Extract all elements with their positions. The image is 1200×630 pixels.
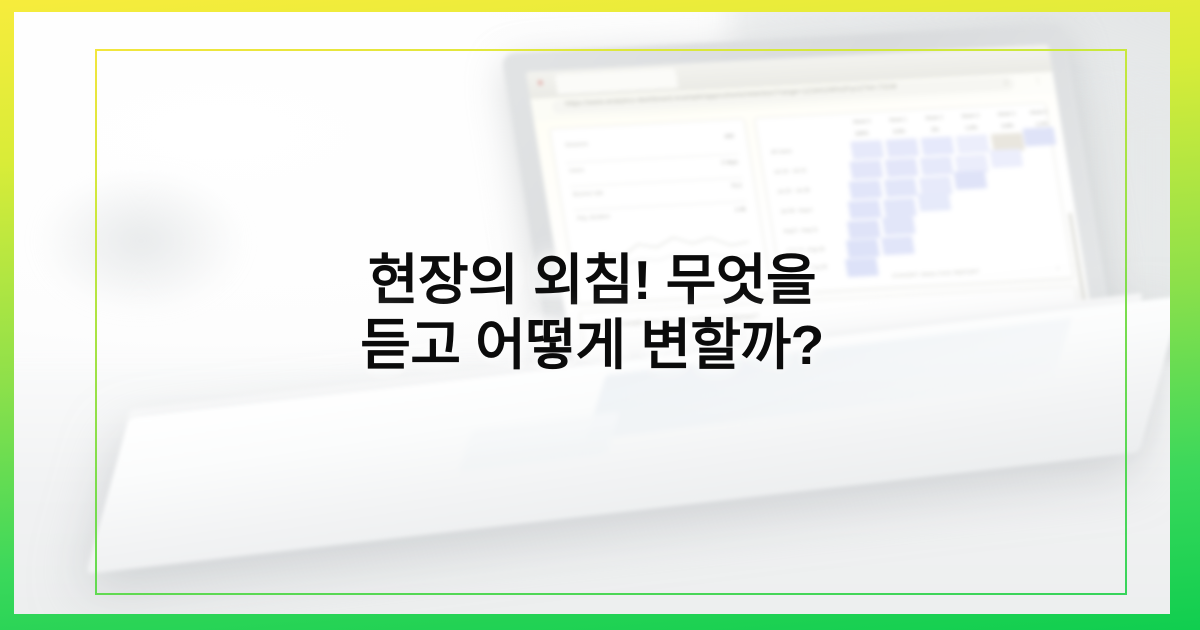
heatmap-cell[interactable] bbox=[921, 136, 955, 155]
cohort-row-label: Jul 29 - Aug 4 bbox=[780, 207, 813, 215]
heatmap-cell[interactable] bbox=[1022, 127, 1056, 146]
headline-line-1: 현장의 외침! 무엇을 bbox=[14, 248, 1170, 313]
thumbnail-card: https://www.analytics-dashboard.example/… bbox=[0, 0, 1200, 630]
metric-value: 400 bbox=[724, 134, 734, 140]
cohort-row-label: Aug 5 - Aug 11 bbox=[783, 227, 818, 235]
cohort-col-percent: 2% bbox=[931, 127, 939, 133]
cohort-row-label: Jul 22 - Jul 28 bbox=[777, 188, 810, 196]
heatmap-cell[interactable] bbox=[917, 192, 951, 211]
metric-value: 1:48 bbox=[734, 207, 746, 213]
heatmap-cell[interactable] bbox=[989, 149, 1023, 168]
heatmap-cell[interactable] bbox=[920, 156, 954, 175]
heatmap-cell[interactable] bbox=[885, 138, 919, 157]
cohort-col-header: Week 5 bbox=[1029, 109, 1048, 116]
metric-label: Users bbox=[569, 168, 585, 175]
kebab-menu-icon[interactable]: ⋮ bbox=[1033, 76, 1042, 85]
window-close-dot[interactable] bbox=[537, 80, 543, 85]
heatmap-cell[interactable] bbox=[885, 158, 919, 177]
heatmap-cell[interactable] bbox=[882, 216, 916, 235]
browser-tab[interactable] bbox=[555, 68, 679, 94]
page-title: 현장의 외침! 무엇을 듣고 어떻게 변할까? bbox=[14, 248, 1170, 378]
cohort-col-percent: 1.6% bbox=[965, 125, 978, 132]
metric-value: 2 days bbox=[721, 159, 739, 166]
cohort-col-header: Week 3 bbox=[961, 113, 980, 120]
metric-label: Bounce rate bbox=[573, 190, 604, 198]
heatmap-cell[interactable] bbox=[849, 160, 883, 179]
cohort-col-header: Week 4 bbox=[997, 111, 1016, 118]
heatmap-cell[interactable] bbox=[847, 220, 881, 239]
heatmap-cell[interactable] bbox=[850, 140, 884, 159]
cohort-col-header: Week 2 bbox=[925, 115, 944, 122]
cohort-col-header: Week 0 bbox=[853, 119, 872, 126]
heatmap-cell[interactable] bbox=[849, 180, 883, 199]
heatmap-cell[interactable] bbox=[953, 170, 987, 189]
headline-line-2: 듣고 어떻게 변할까? bbox=[14, 313, 1170, 378]
cohort-col-percent: 100% bbox=[855, 131, 869, 138]
cohort-row-label: Jul 15 - Jul 21 bbox=[774, 168, 807, 176]
heatmap-cell[interactable] bbox=[848, 200, 882, 219]
home-icon[interactable]: ⌂ bbox=[1003, 78, 1009, 87]
cohort-row-label: All Users bbox=[770, 149, 792, 156]
cohort-col-percent: 3.5% bbox=[893, 129, 906, 136]
heatmap-cell[interactable] bbox=[884, 178, 918, 197]
metric-label: Avg. duration bbox=[577, 214, 611, 222]
card-content-area: https://www.analytics-dashboard.example/… bbox=[14, 12, 1170, 614]
heatmap-cell[interactable] bbox=[883, 198, 917, 217]
cohort-col-percent: 0.8% bbox=[1001, 123, 1014, 130]
metric-value: 73.2 bbox=[730, 183, 742, 189]
cohort-col-header: Week 1 bbox=[889, 117, 908, 124]
heatmap-cell[interactable] bbox=[956, 134, 990, 153]
metric-label: Sessions bbox=[565, 141, 589, 148]
